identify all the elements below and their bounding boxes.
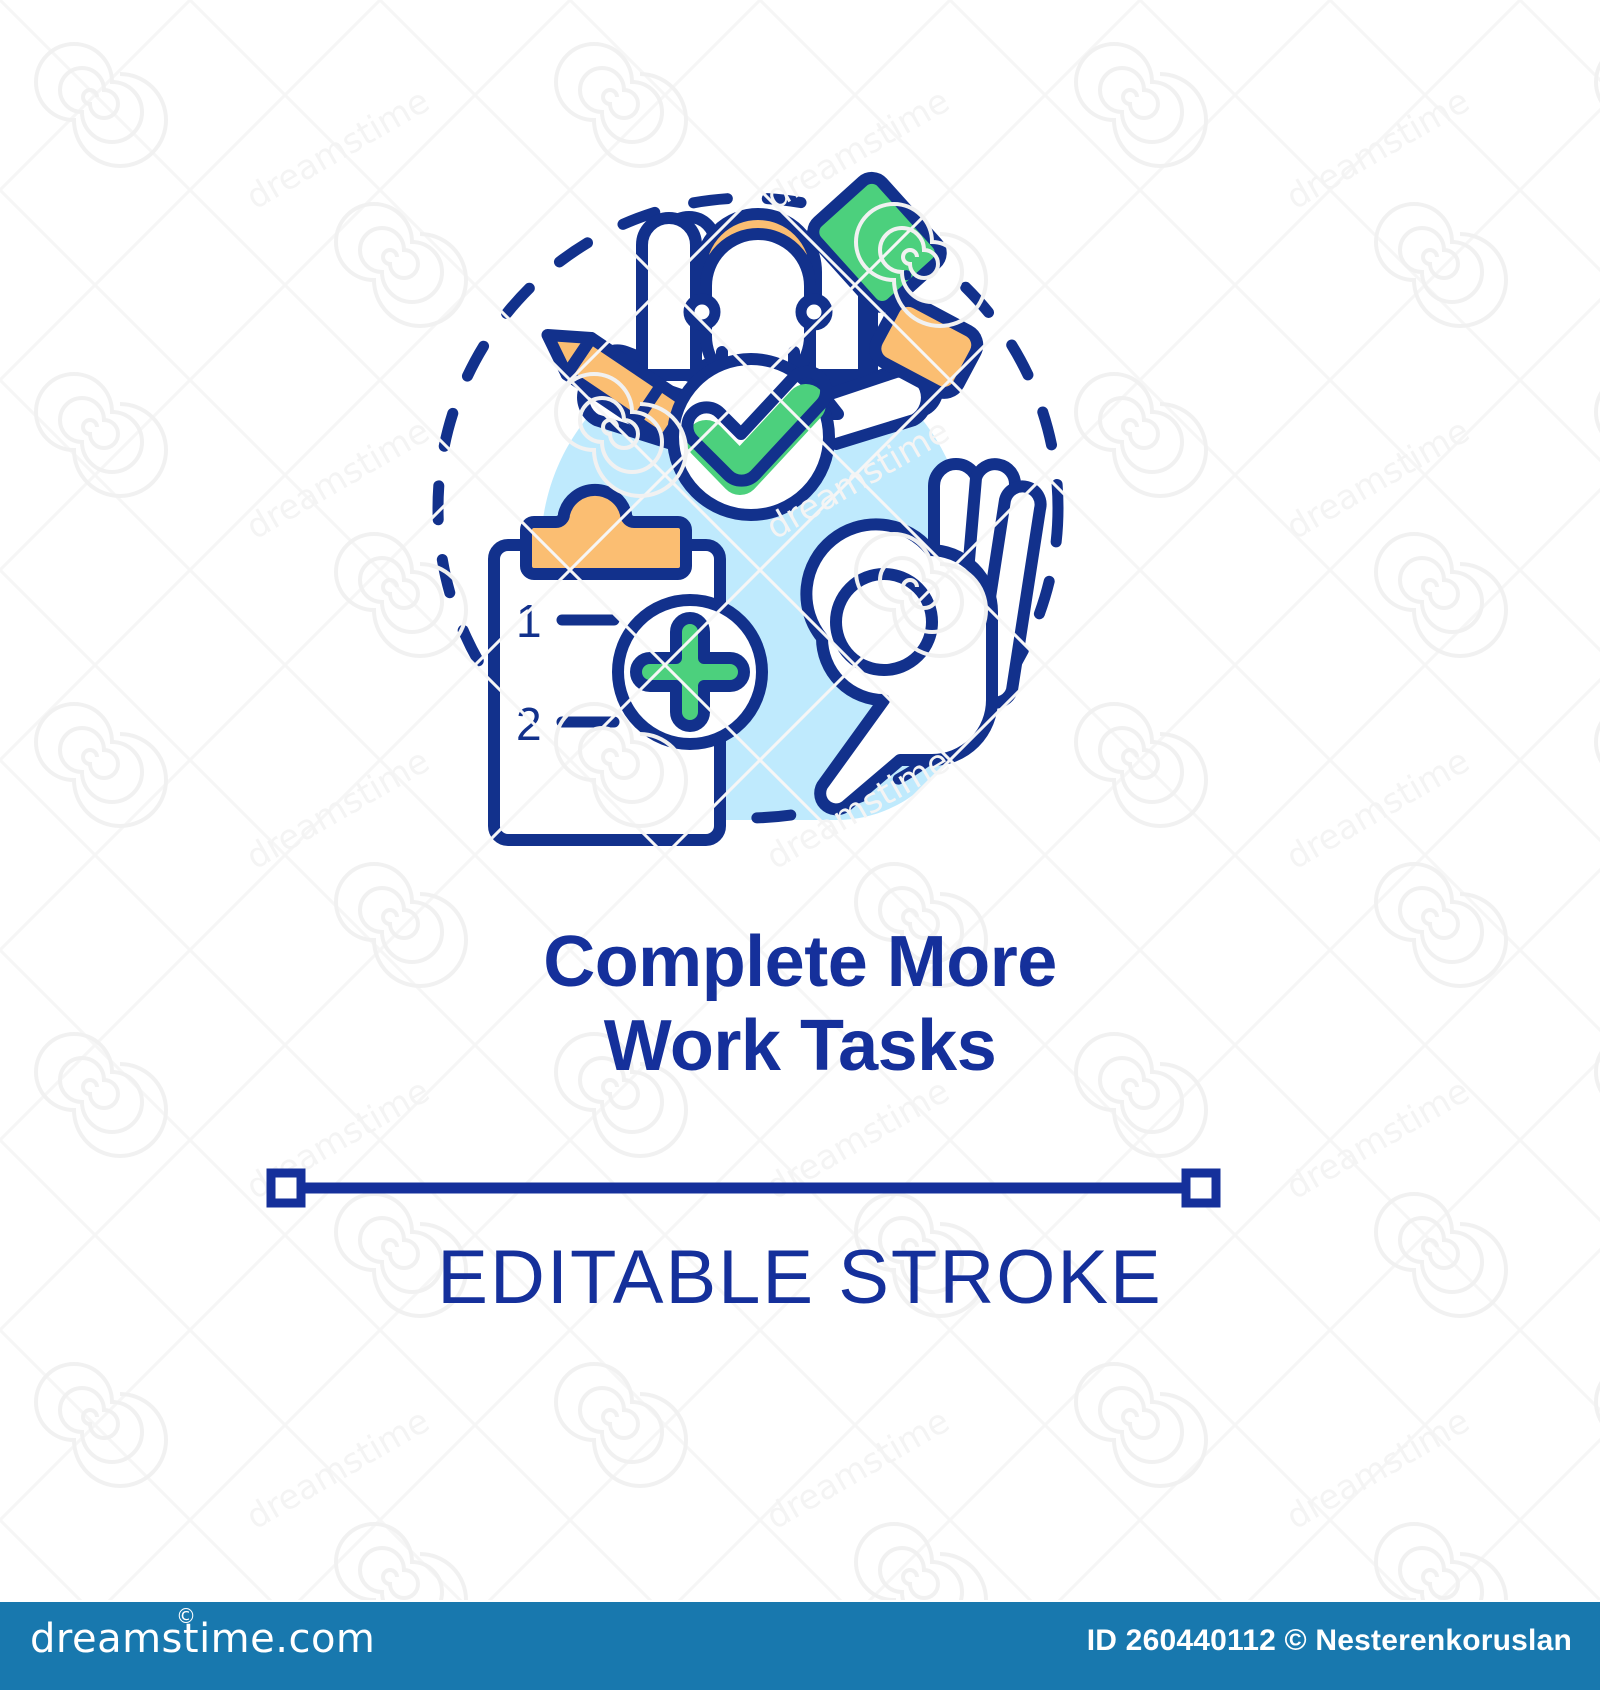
stroke-indicator-line (0, 1155, 1600, 1225)
dreamstime-logo[interactable]: dreamstime.com © (30, 1616, 375, 1662)
stroke-handle-left[interactable] (271, 1173, 301, 1203)
stroke-indicator (0, 1155, 1600, 1225)
concept-title: Complete More Work Tasks (0, 920, 1600, 1088)
editable-stroke-label: EDITABLE STROKE (0, 1235, 1600, 1321)
check-circle-icon (673, 359, 829, 515)
registered-mark-icon: © (176, 1604, 197, 1628)
clipboard-number-1: 1 (516, 595, 542, 647)
image-credit: ID 260440112 © Nesterenkoruslan (1087, 1624, 1572, 1658)
clipboard-number-2: 2 (516, 698, 542, 750)
brand-text: dreamstime.com (30, 1616, 375, 1662)
footer-bar: dreamstime.com © ID 260440112 © Nesteren… (0, 1602, 1600, 1690)
title-line-2: Work Tasks (0, 1004, 1600, 1088)
title-line-1: Complete More (0, 920, 1600, 1004)
stroke-handle-right[interactable] (1186, 1173, 1216, 1203)
plus-circle-icon (618, 600, 762, 744)
